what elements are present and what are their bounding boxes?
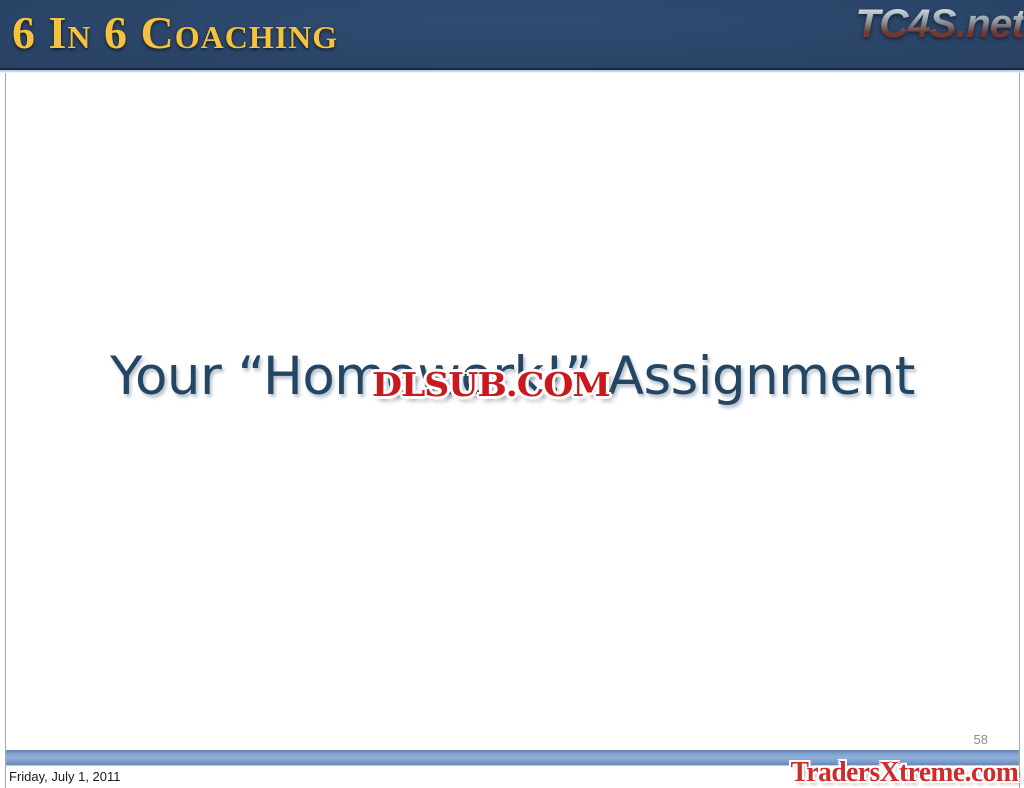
tc4s-site-logo: TC4S.net xyxy=(855,0,1024,50)
tradersxtreme-site-logo: TradersXtreme.com xyxy=(790,757,1018,788)
page-number: 58 xyxy=(974,732,988,747)
brand-title: 6 In 6 Coaching xyxy=(12,3,338,63)
header-underline xyxy=(0,70,1024,73)
page-border-right xyxy=(1019,0,1020,788)
footer-date: Friday, July 1, 2011 xyxy=(9,769,121,784)
dlsub-watermark: DLSUB.COM xyxy=(372,366,610,404)
slide-header-band: 6 In 6 Coaching TC4S.net xyxy=(0,0,1024,70)
presentation-slide: 6 In 6 Coaching TC4S.net Your “Homework!… xyxy=(0,0,1024,788)
